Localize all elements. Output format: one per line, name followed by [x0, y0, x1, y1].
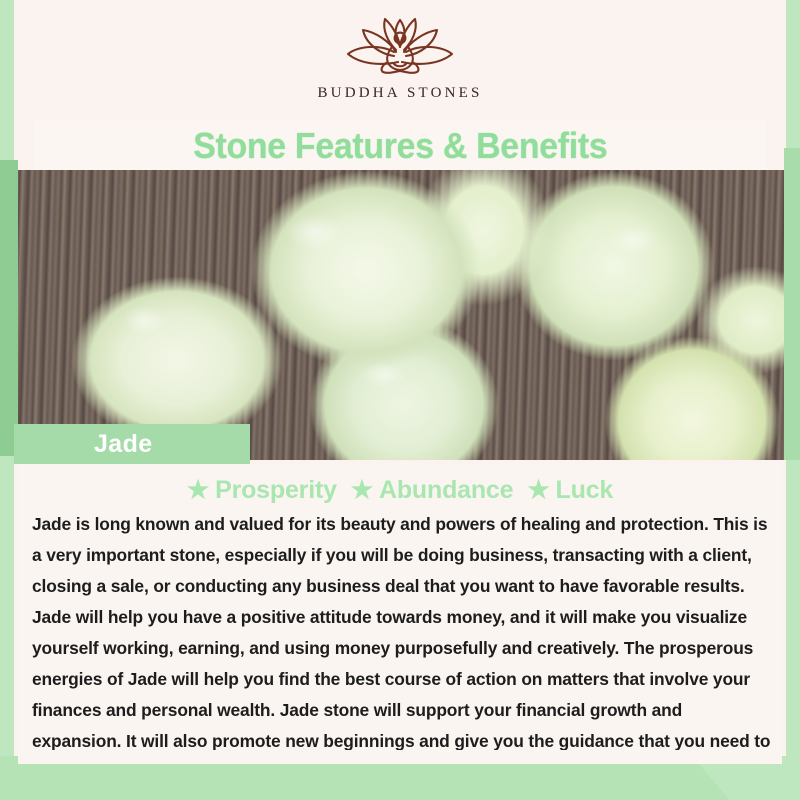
title-banner: Stone Features & Benefits: [34, 120, 766, 172]
accent-bar-right: [784, 148, 800, 460]
keyword-list: ★ Prosperity ★ Abundance ★ Luck: [18, 464, 782, 505]
keyword-abundance: ★ Abundance: [351, 476, 514, 505]
star-icon: ★: [187, 478, 209, 503]
keyword-luck: ★ Luck: [527, 476, 613, 505]
stone-photo-highlights: [14, 170, 786, 460]
star-icon: ★: [351, 478, 373, 503]
stone-name-label: Jade: [94, 430, 153, 459]
keyword-label: Luck: [556, 476, 614, 505]
poster-root: BUDDHA STONES Stone Features & Benefits …: [0, 0, 800, 800]
keyword-label: Prosperity: [215, 476, 337, 505]
brand-name: BUDDHA STONES: [317, 85, 482, 102]
brand-header: BUDDHA STONES: [14, 0, 786, 120]
description-card: ★ Prosperity ★ Abundance ★ Luck Jade is …: [18, 464, 782, 764]
page-title: Stone Features & Benefits: [193, 125, 607, 167]
lotus-meditation-icon: [336, 16, 464, 78]
bottom-card-edge: [18, 750, 782, 764]
keyword-prosperity: ★ Prosperity: [187, 476, 337, 505]
accent-bar-left: [0, 160, 18, 456]
stone-name-chip: Jade: [14, 424, 250, 464]
stone-photo: [14, 170, 786, 460]
keyword-label: Abundance: [379, 476, 513, 505]
description-paragraph: Jade is long known and valued for its be…: [32, 509, 772, 788]
star-icon: ★: [527, 478, 549, 503]
